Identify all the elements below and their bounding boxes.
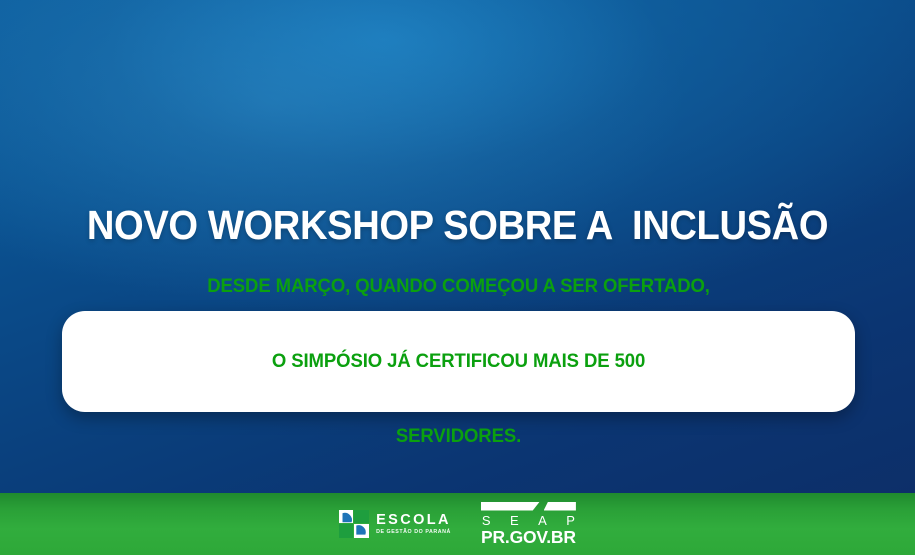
- seap-letter-p: P: [566, 514, 575, 528]
- escola-title: ESCOLA: [376, 513, 451, 528]
- promo-banner: NOVO WORKSHOP SOBRE A INCLUSÃO DAS PESSO…: [0, 0, 915, 555]
- seap-letter-e: E: [510, 514, 519, 528]
- escola-pinwheel-icon: [339, 510, 369, 538]
- seap-bar-left: [481, 502, 540, 511]
- seap-letters: S E A P: [481, 514, 576, 528]
- subtitle-line-3: SERVIDORES.: [207, 424, 710, 449]
- subtitle-line-2: O SIMPÓSIO JÁ CERTIFICOU MAIS DE 500: [207, 349, 710, 374]
- subtitle-line-1: DESDE MARÇO, QUANDO COMEÇOU A SER OFERTA…: [207, 274, 710, 299]
- escola-wordmark: ESCOLA DE GESTÃO DO PARANÁ: [376, 513, 451, 536]
- footer-band: ESCOLA DE GESTÃO DO PARANÁ S E A P PR.GO…: [0, 493, 915, 555]
- seap-letter-s: S: [482, 514, 491, 528]
- escola-subtitle: DE GESTÃO DO PARANÁ: [376, 530, 451, 535]
- seap-bar-right: [544, 502, 576, 511]
- subtitle-card: DESDE MARÇO, QUANDO COMEÇOU A SER OFERTA…: [62, 311, 855, 412]
- seap-letter-a: A: [538, 514, 547, 528]
- subtitle-text: DESDE MARÇO, QUANDO COMEÇOU A SER OFERTA…: [207, 224, 710, 499]
- seap-bars-icon: [481, 502, 576, 511]
- seap-domain: PR.GOV.BR: [481, 528, 576, 547]
- escola-logo: ESCOLA DE GESTÃO DO PARANÁ: [339, 510, 451, 538]
- seap-logo: S E A P PR.GOV.BR: [481, 502, 576, 547]
